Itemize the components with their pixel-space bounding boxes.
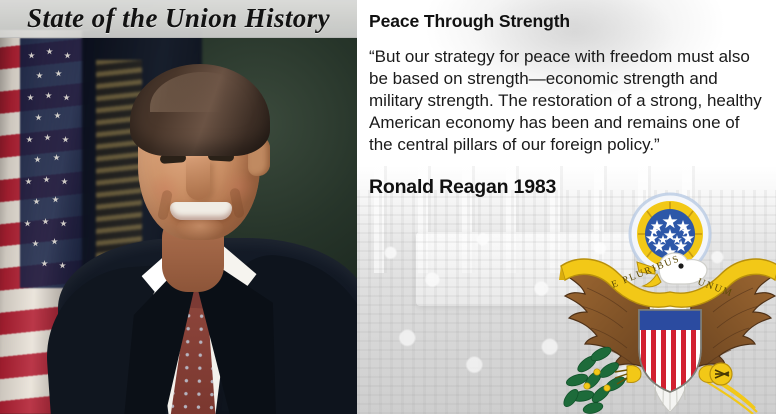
reagan-portrait-photo: State of the Union History — [0, 0, 357, 414]
attribution: Ronald Reagan 1983 — [369, 176, 763, 199]
mouth — [170, 202, 232, 220]
chin — [176, 220, 224, 240]
reagan-figure — [0, 0, 357, 414]
headline: Peace Through Strength — [369, 11, 763, 32]
quote-text: “But our strategy for peace with freedom… — [369, 46, 763, 156]
slide-root: State of the Union History — [0, 0, 776, 414]
page-title: State of the Union History — [27, 3, 330, 34]
nose — [186, 158, 210, 200]
content-panel: E PLURIBUS UNUM — [357, 0, 776, 414]
title-banner: State of the Union History — [0, 0, 357, 38]
content-text-block: Peace Through Strength “But our strategy… — [357, 0, 776, 414]
